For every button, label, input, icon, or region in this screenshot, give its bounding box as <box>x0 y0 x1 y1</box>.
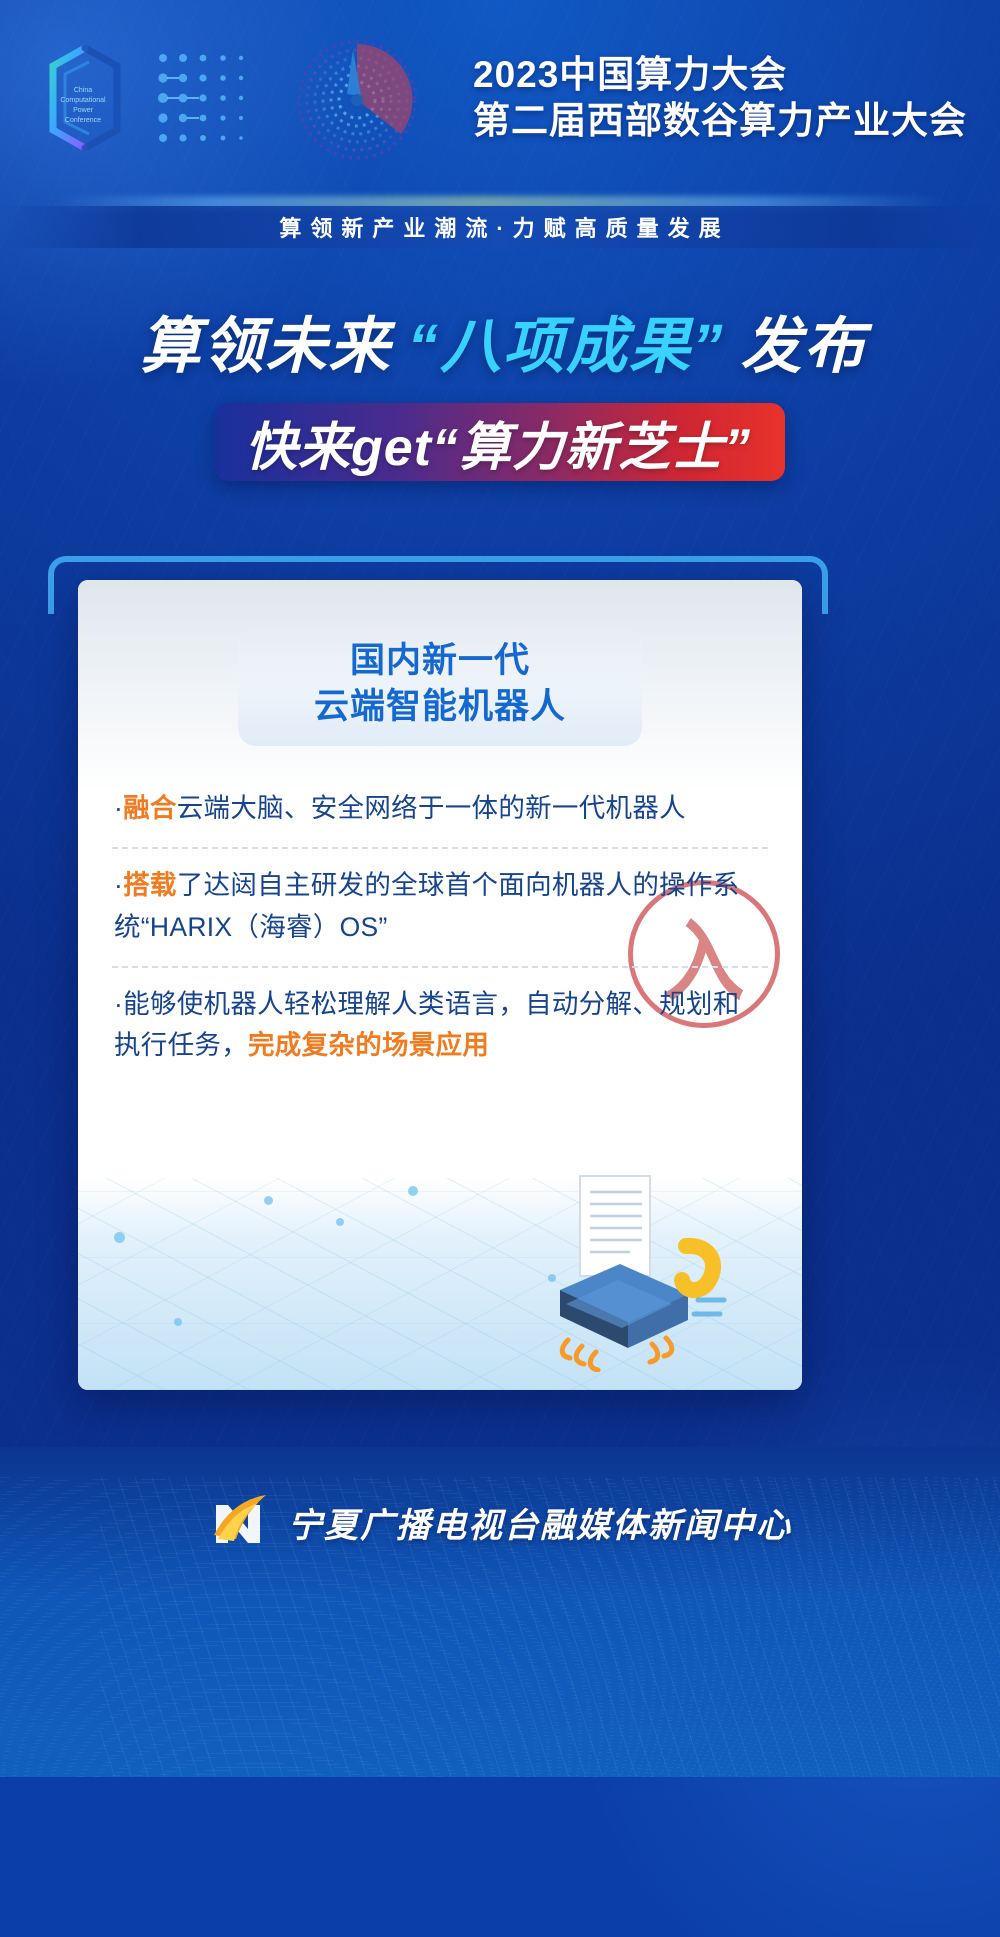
conference-title-line2: 第二届西部数谷算力产业大会 <box>473 98 967 143</box>
headline-pill-text: 快来get“算力新芝士” <box>245 405 751 480</box>
svg-text:China: China <box>74 87 92 94</box>
headline-pill: 快来get“算力新芝士” <box>215 403 785 481</box>
bullet-text: 了达闼自主研发的全球首个面向机器人的操作系统“HARIX（海睿）OS” <box>114 870 740 941</box>
result-card: 国内新一代 云端智能机器人 ·融合云端大脑、安全网络于一体的新一代机器人 ·搭载… <box>78 580 802 1390</box>
headline-block: 算领未来 “八项成果” 发布 快来get“算力新芝士” <box>0 296 1000 481</box>
card-title-line-2: 云端智能机器人 <box>238 684 642 730</box>
header-title-block: 2023中国算力大会 第二届西部数谷算力产业大会 <box>473 52 967 142</box>
headline-row-1: 算领未来 “八项成果” 发布 <box>0 296 1000 385</box>
server-illustration-icon <box>502 1172 732 1372</box>
bullet-text: 云端大脑、安全网络于一体的新一代机器人 <box>177 793 686 823</box>
card-bullet-list: ·融合云端大脑、安全网络于一体的新一代机器人 ·搭载了达闼自主研发的全球首个面向… <box>112 772 768 1083</box>
headline-part-3: 发布 <box>741 296 867 385</box>
headline-part-1: 算领未来 <box>139 296 391 385</box>
svg-text:Computational: Computational <box>60 97 106 104</box>
footer-brand: 宁夏广播电视台融媒体新闻中心 <box>0 1491 1000 1553</box>
list-item: ·能够使机器人轻松理解人类语言，自动分解、规划和执行任务，完成复杂的场景应用 <box>112 966 768 1084</box>
card-title: 国内新一代 云端智能机器人 <box>238 626 642 746</box>
bullet-marker: · <box>114 793 123 823</box>
dot-matrix-icon <box>149 38 257 158</box>
radial-fan-logo-icon <box>285 28 435 168</box>
bullet-marker: · <box>114 870 123 900</box>
bullet-trailing-highlight: 完成复杂的场景应用 <box>248 1030 489 1060</box>
poster-footer: 宁夏广播电视台融媒体新闻中心 <box>0 1447 1000 1777</box>
list-item: ·融合云端大脑、安全网络于一体的新一代机器人 <box>112 772 768 847</box>
list-item: ·搭载了达闼自主研发的全球首个面向机器人的操作系统“HARIX（海睿）OS” <box>112 847 768 965</box>
card-title-line-1: 国内新一代 <box>238 638 642 684</box>
footer-brand-name: 宁夏广播电视台融媒体新闻中心 <box>288 1498 792 1547</box>
headline-part-2: “八项成果” <box>407 296 724 385</box>
tagline-bar: 算领新产业潮流·力赋高质量发展 <box>0 196 1000 254</box>
nx-swoosh-logo-icon <box>208 1491 272 1553</box>
hexagon-logo-icon: China Computational Power Conference <box>33 38 151 158</box>
svg-text:Conference: Conference <box>65 117 101 124</box>
bullet-highlight: 搭载 <box>123 870 177 900</box>
bullet-highlight: 融合 <box>123 793 177 823</box>
bullet-marker: · <box>114 989 123 1019</box>
conference-title-line1: 2023中国算力大会 <box>473 52 967 97</box>
poster-header: China Computational Power Conference <box>0 0 1000 195</box>
svg-text:Power: Power <box>73 107 94 114</box>
tagline-text: 算领新产业潮流·力赋高质量发展 <box>0 206 1000 248</box>
headline-row-2: 快来get“算力新芝士” <box>0 403 1000 481</box>
